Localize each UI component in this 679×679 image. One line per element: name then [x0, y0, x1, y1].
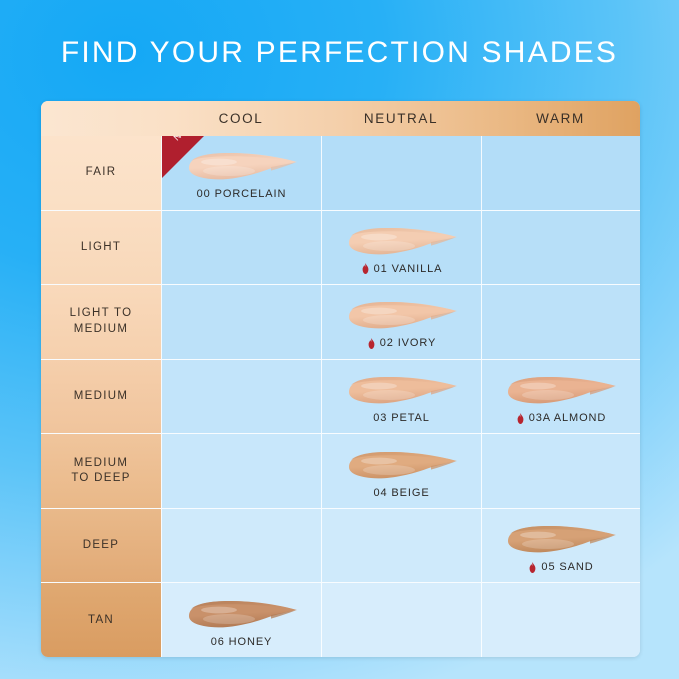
new-badge-ribbon: [162, 136, 204, 178]
shade-cell-05[interactable]: 05 SAND: [481, 509, 640, 583]
flame-icon: [367, 338, 376, 349]
column-header-neutral: NEUTRAL: [321, 101, 481, 136]
empty-cell-cool: [161, 434, 321, 508]
swatch-shape: [502, 369, 620, 409]
shade-swatch: [343, 444, 461, 484]
shade-label: 01 VANILLA: [361, 263, 443, 275]
swatch-shape: [343, 294, 461, 334]
header-corner-cell: [41, 101, 161, 136]
swatch-shape: [343, 444, 461, 484]
shade-label-text: 00 PORCELAIN: [197, 188, 287, 200]
page-title: FIND YOUR PERFECTION SHADES: [0, 36, 679, 70]
shade-cell-04[interactable]: 04 BEIGE: [321, 434, 481, 508]
empty-cell-neutral: [321, 136, 481, 210]
table-body: FAIRNEW 00 PORCELAINLIGHT: [41, 136, 640, 657]
shade-label: 05 SAND: [528, 561, 593, 573]
table-row: FAIRNEW 00 PORCELAIN: [41, 136, 640, 210]
flame-icon: [528, 562, 537, 573]
empty-cell-neutral: [321, 509, 481, 583]
row-label-medium: MEDIUM: [41, 360, 161, 434]
shade-label-text: 03A ALMOND: [529, 412, 606, 424]
shade-swatch: [343, 369, 461, 409]
table-row: LIGHT TO MEDIUM 02 IVORY: [41, 284, 640, 359]
row-label-deep: DEEP: [41, 509, 161, 583]
shade-label: 00 PORCELAIN: [197, 188, 287, 200]
shade-label: 06 HONEY: [211, 636, 273, 648]
shade-label-text: 02 IVORY: [380, 337, 437, 349]
swatch-shape: [183, 593, 301, 633]
empty-cell-warm: [481, 136, 640, 210]
shade-swatch: [183, 593, 301, 633]
flame-icon-wrap: [528, 562, 537, 573]
row-label-tan: TAN: [41, 583, 161, 657]
shade-label: 03A ALMOND: [516, 412, 606, 424]
empty-cell-warm: [481, 285, 640, 359]
empty-cell-neutral: [321, 583, 481, 657]
shade-swatch: [343, 294, 461, 334]
shade-cell-01[interactable]: 01 VANILLA: [321, 211, 481, 285]
shade-label: 03 PETAL: [373, 412, 430, 424]
empty-cell-cool: [161, 211, 321, 285]
swatch-shape: [502, 518, 620, 558]
empty-cell-warm: [481, 211, 640, 285]
flame-icon: [361, 263, 370, 274]
shade-label-text: 05 SAND: [541, 561, 593, 573]
shade-label-text: 01 VANILLA: [374, 263, 443, 275]
row-label-fair: FAIR: [41, 136, 161, 210]
flame-icon-wrap: [367, 338, 376, 349]
table-row: TAN 06 HONEY: [41, 582, 640, 657]
shade-swatch: [502, 518, 620, 558]
row-label-light: LIGHT: [41, 211, 161, 285]
shade-label: 02 IVORY: [367, 337, 437, 349]
swatch-shape: [343, 369, 461, 409]
table-row: LIGHT 01 VANILLA: [41, 210, 640, 285]
row-label-medium-to-deep: MEDIUM TO DEEP: [41, 434, 161, 508]
shade-label: 04 BEIGE: [373, 487, 429, 499]
table-row: DEEP 05 SAND: [41, 508, 640, 583]
table-row: MEDIUM TO DEEP 04 BEIGE: [41, 433, 640, 508]
flame-icon-wrap: [361, 263, 370, 274]
flame-icon: [516, 413, 525, 424]
flame-icon-wrap: [516, 413, 525, 424]
shade-swatch: [343, 220, 461, 260]
shade-label-text: 04 BEIGE: [373, 487, 429, 499]
column-header-cool: COOL: [161, 101, 321, 136]
empty-cell-cool: [161, 285, 321, 359]
empty-cell-cool: [161, 509, 321, 583]
row-label-light-to-medium: LIGHT TO MEDIUM: [41, 285, 161, 359]
empty-cell-cool: [161, 360, 321, 434]
shade-label-text: 06 HONEY: [211, 636, 273, 648]
table-header-row: COOL NEUTRAL WARM: [41, 101, 640, 136]
shade-cell-02[interactable]: 02 IVORY: [321, 285, 481, 359]
shade-cell-03a[interactable]: 03A ALMOND: [481, 360, 640, 434]
empty-cell-warm: [481, 434, 640, 508]
shade-cell-06[interactable]: 06 HONEY: [161, 583, 321, 657]
shade-cell-00[interactable]: NEW 00 PORCELAIN: [161, 136, 321, 210]
shade-cell-03[interactable]: 03 PETAL: [321, 360, 481, 434]
empty-cell-warm: [481, 583, 640, 657]
shade-swatch: [502, 369, 620, 409]
table-row: MEDIUM 03 PETAL: [41, 359, 640, 434]
swatch-shape: [343, 220, 461, 260]
column-header-warm: WARM: [481, 101, 640, 136]
shade-chart-table: COOL NEUTRAL WARM FAIRNEW 00 PORCELAINLI…: [41, 101, 640, 657]
shade-label-text: 03 PETAL: [373, 412, 430, 424]
